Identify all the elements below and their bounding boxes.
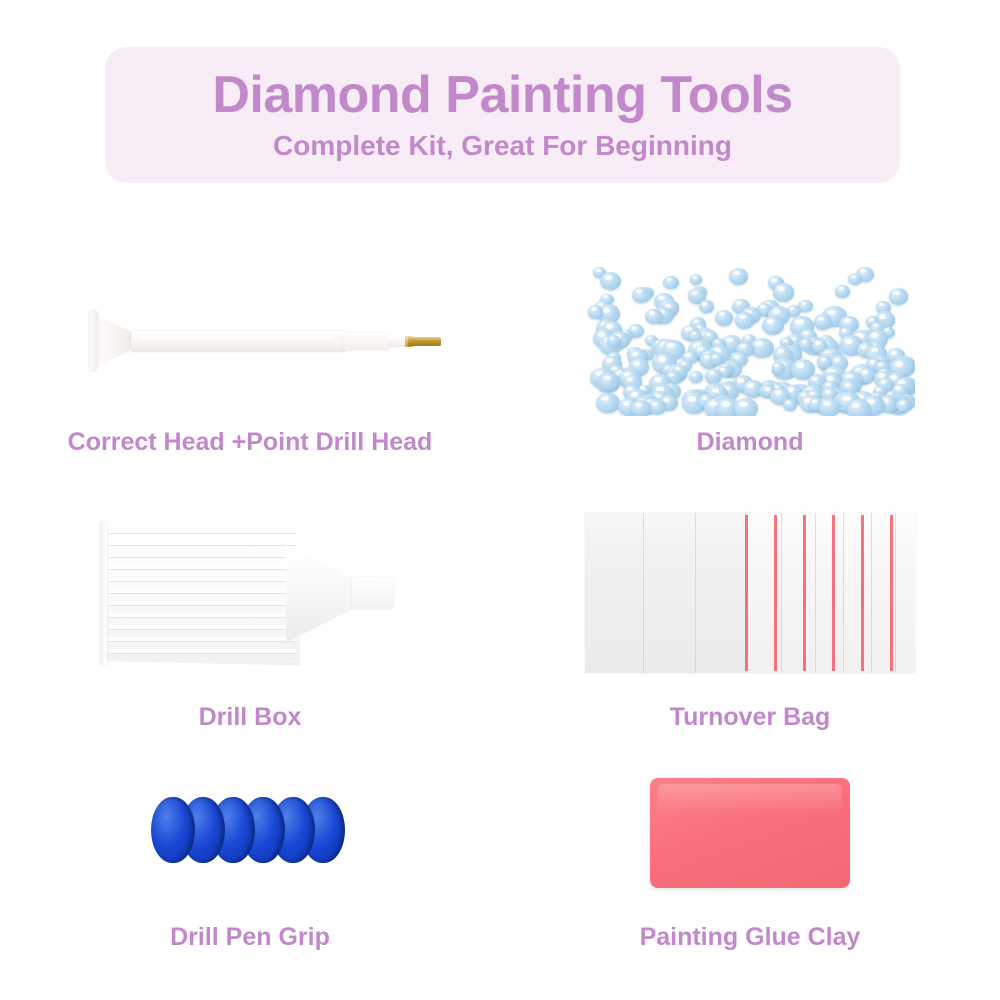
glue-clay-sheen-icon [658, 784, 842, 814]
product-label-drill-box: Drill Box [199, 705, 302, 730]
diamond-bead-icon [819, 398, 841, 416]
page-subtitle: Complete Kit, Great For Beginning [273, 130, 732, 162]
bag-fold-line-icon [895, 513, 896, 673]
pen-point-drill-tip-icon [408, 337, 441, 346]
diamond-bead-icon [735, 312, 754, 328]
diamond-bead-icon [710, 353, 723, 364]
product-cell-diamond: Diamond [520, 240, 980, 455]
bag-fold-line-icon [871, 513, 872, 673]
diamond-beads-pile [585, 266, 915, 416]
diamond-bead-icon [783, 399, 796, 411]
diamond-bead-icon [699, 300, 713, 312]
diamond-bead-icon [734, 398, 758, 416]
diamond-bead-icon [632, 287, 651, 303]
diamond-bead-icon [896, 399, 911, 412]
bag-red-stripe-icon [774, 515, 777, 671]
diamond-bead-icon [847, 399, 871, 416]
diamond-bead-icon [663, 276, 678, 289]
pen-collar-icon [343, 333, 391, 350]
turnover-bag-illustration [520, 500, 980, 685]
bag-fold-line-icon [695, 513, 696, 673]
diamond-bead-icon [690, 274, 702, 284]
turnover-bag-stack [585, 513, 915, 673]
bag-red-stripe-icon [890, 515, 893, 671]
diamond-bead-icon [689, 371, 703, 383]
product-cell-correct-head: Correct Head +Point Drill Head [20, 240, 480, 455]
bag-fold-line-icon [643, 513, 644, 673]
tray-ribs-icon [104, 525, 296, 662]
pen-grip-illustration [20, 763, 480, 903]
bag-panel-shade-icon [643, 513, 695, 673]
diamond-bead-icon [588, 305, 604, 319]
diamond-bead-icon [848, 273, 862, 285]
diamond-bead-icon [600, 272, 621, 290]
bag-panel-shade-icon [585, 513, 643, 673]
drill-box-illustration [20, 500, 480, 685]
diamond-bead-icon [715, 310, 734, 326]
product-label-painting-glue-clay: Painting Glue Clay [640, 925, 861, 950]
page-title: Diamond Painting Tools [212, 68, 792, 123]
product-cell-drill-box: Drill Box [20, 480, 480, 730]
product-label-turnover-bag: Turnover Bag [670, 705, 831, 730]
diamond-bead-icon [814, 314, 832, 330]
diamond-bead-icon [729, 268, 749, 285]
bag-red-stripe-icon [803, 515, 806, 671]
product-label-drill-pen-grip: Drill Pen Grip [170, 925, 330, 950]
diamond-bead-icon [705, 369, 723, 384]
bag-fold-line-icon [781, 513, 782, 673]
header-banner: Diamond Painting Tools Complete Kit, Gre… [105, 47, 900, 183]
glue-clay-block-icon [650, 778, 850, 888]
bag-red-stripe-icon [861, 515, 864, 671]
tray-funnel-icon [286, 545, 358, 643]
glue-clay-illustration [520, 763, 980, 903]
product-label-correct-head: Correct Head +Point Drill Head [68, 430, 433, 455]
bag-red-stripe-icon [832, 515, 835, 671]
pen-grip-body [145, 793, 355, 873]
bag-fold-line-icon [815, 513, 816, 673]
pen-head-plate-icon [89, 311, 98, 371]
diamond-bead-icon [835, 285, 850, 298]
drill-pen-illustration [20, 266, 480, 416]
pen-grip-ridge-icon [151, 797, 195, 863]
product-cell-drill-pen-grip: Drill Pen Grip [20, 750, 480, 950]
product-label-diamond: Diamond [697, 430, 804, 455]
tray-spout-icon [352, 577, 394, 609]
diamond-bead-icon [631, 400, 651, 416]
bag-red-stripe-icon [745, 515, 748, 671]
tray-edge-icon [100, 522, 107, 665]
product-cell-turnover-bag: Turnover Bag [520, 480, 980, 730]
diamond-bead-icon [889, 288, 908, 304]
diamond-bead-icon [596, 393, 620, 414]
diamond-bead-icon [772, 362, 785, 373]
bag-fold-line-icon [843, 513, 844, 673]
diamond-bead-icon [762, 316, 784, 335]
bag-panel-shade-icon [695, 513, 745, 673]
diamond-beads-illustration [520, 266, 980, 416]
product-cell-painting-glue-clay: Painting Glue Clay [520, 750, 980, 950]
pen-barrel-shine-icon [141, 335, 331, 340]
diamond-bead-icon [773, 283, 795, 302]
